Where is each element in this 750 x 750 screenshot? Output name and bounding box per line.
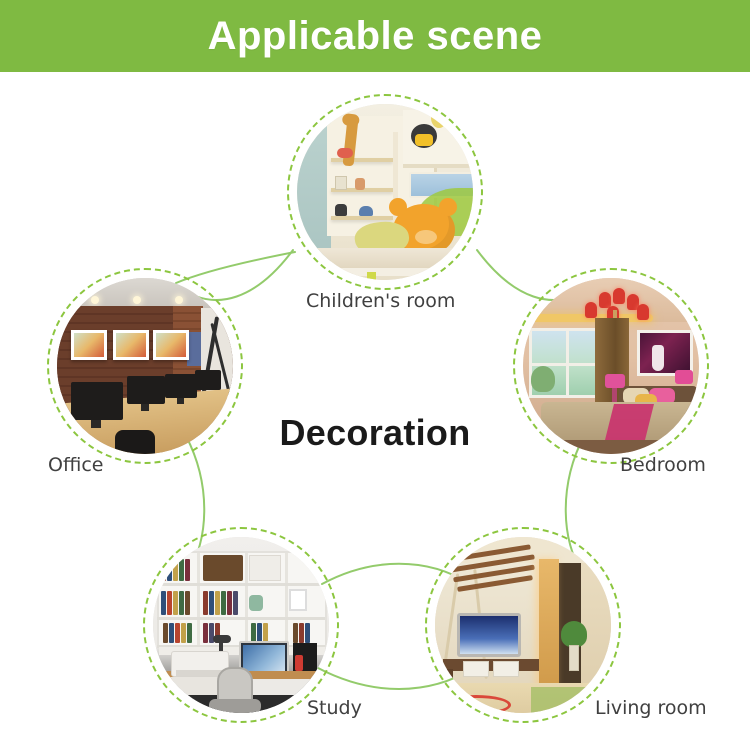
bedroom-photo [523, 278, 699, 454]
scene-node-bedroom[interactable] [513, 268, 709, 464]
scene-diagram: Decoration Children's room [0, 72, 750, 750]
childrens-room-photo [297, 104, 473, 280]
study-photo [153, 537, 329, 713]
scene-node-children[interactable] [287, 94, 483, 290]
scene-label-living: Living room [595, 697, 707, 719]
scene-label-bedroom: Bedroom [620, 454, 706, 476]
page-header: Applicable scene [0, 0, 750, 72]
scene-label-office: Office [48, 454, 103, 476]
scene-label-children: Children's room [306, 290, 455, 312]
page-title: Applicable scene [208, 16, 543, 56]
office-photo [57, 278, 233, 454]
scene-node-living[interactable] [425, 527, 621, 723]
scene-node-office[interactable] [47, 268, 243, 464]
scene-label-study: Study [307, 697, 362, 719]
scene-node-study[interactable] [143, 527, 339, 723]
living-room-photo [435, 537, 611, 713]
